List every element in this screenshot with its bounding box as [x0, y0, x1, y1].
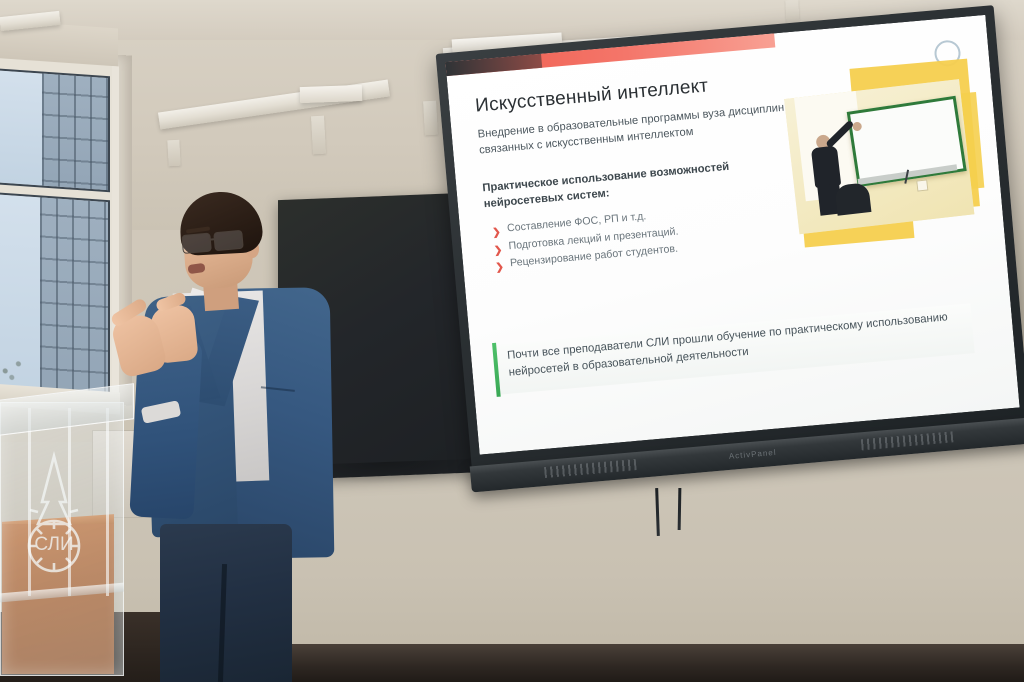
- light-bracket-2: [423, 101, 438, 136]
- presentation-slide: Искусственный интеллект Внедрение в обра…: [445, 15, 1019, 455]
- building-windows-grid-lower: [40, 192, 110, 401]
- display-screen[interactable]: Искусственный интеллект Внедрение в обра…: [445, 15, 1019, 455]
- presenter: [108, 188, 338, 682]
- lectern-rail-2: [68, 408, 71, 596]
- glasses-lens-left: [181, 233, 212, 254]
- chevron-right-icon: ❯: [495, 259, 505, 277]
- photo-image: [784, 79, 974, 234]
- slide-photo: [778, 58, 989, 256]
- building-windows-grid: [42, 70, 110, 193]
- light-bracket-1: [311, 116, 326, 155]
- building-exterior: [42, 70, 110, 193]
- interactive-display[interactable]: Искусственный интеллект Внедрение в обра…: [436, 4, 1024, 522]
- lectern-rail-1: [28, 408, 31, 596]
- speaker-grille-left: [544, 459, 637, 478]
- lectern-rail-3: [106, 408, 109, 596]
- lecture-room-scene: Искусственный интеллект Внедрение в обра…: [0, 0, 1024, 682]
- window-pane-bottom: [0, 192, 110, 401]
- sli-emblem-icon: СЛИ: [8, 450, 100, 580]
- glasses-lens-right: [213, 230, 244, 251]
- speaker-grille-right: [861, 431, 954, 450]
- slide-accent-bar-dark: [445, 54, 542, 76]
- photo-chair: [834, 182, 871, 216]
- photo-wall-socket: [916, 179, 928, 191]
- photo-person-torso: [811, 145, 841, 188]
- tree-icon: [0, 346, 36, 389]
- presenter-jacket-pocket: [259, 386, 295, 407]
- display-bezel: Искусственный интеллект Внедрение в обра…: [436, 5, 1024, 472]
- window-pane-top: [0, 68, 110, 193]
- light-bracket-0: [167, 140, 180, 167]
- presenter-trousers: [160, 524, 292, 682]
- lectern[interactable]: СЛИ: [0, 392, 140, 682]
- display-brand-label: ActivPanel: [715, 447, 790, 463]
- ceiling-light-1-end: [300, 85, 363, 103]
- building-exterior-lower: [40, 192, 110, 401]
